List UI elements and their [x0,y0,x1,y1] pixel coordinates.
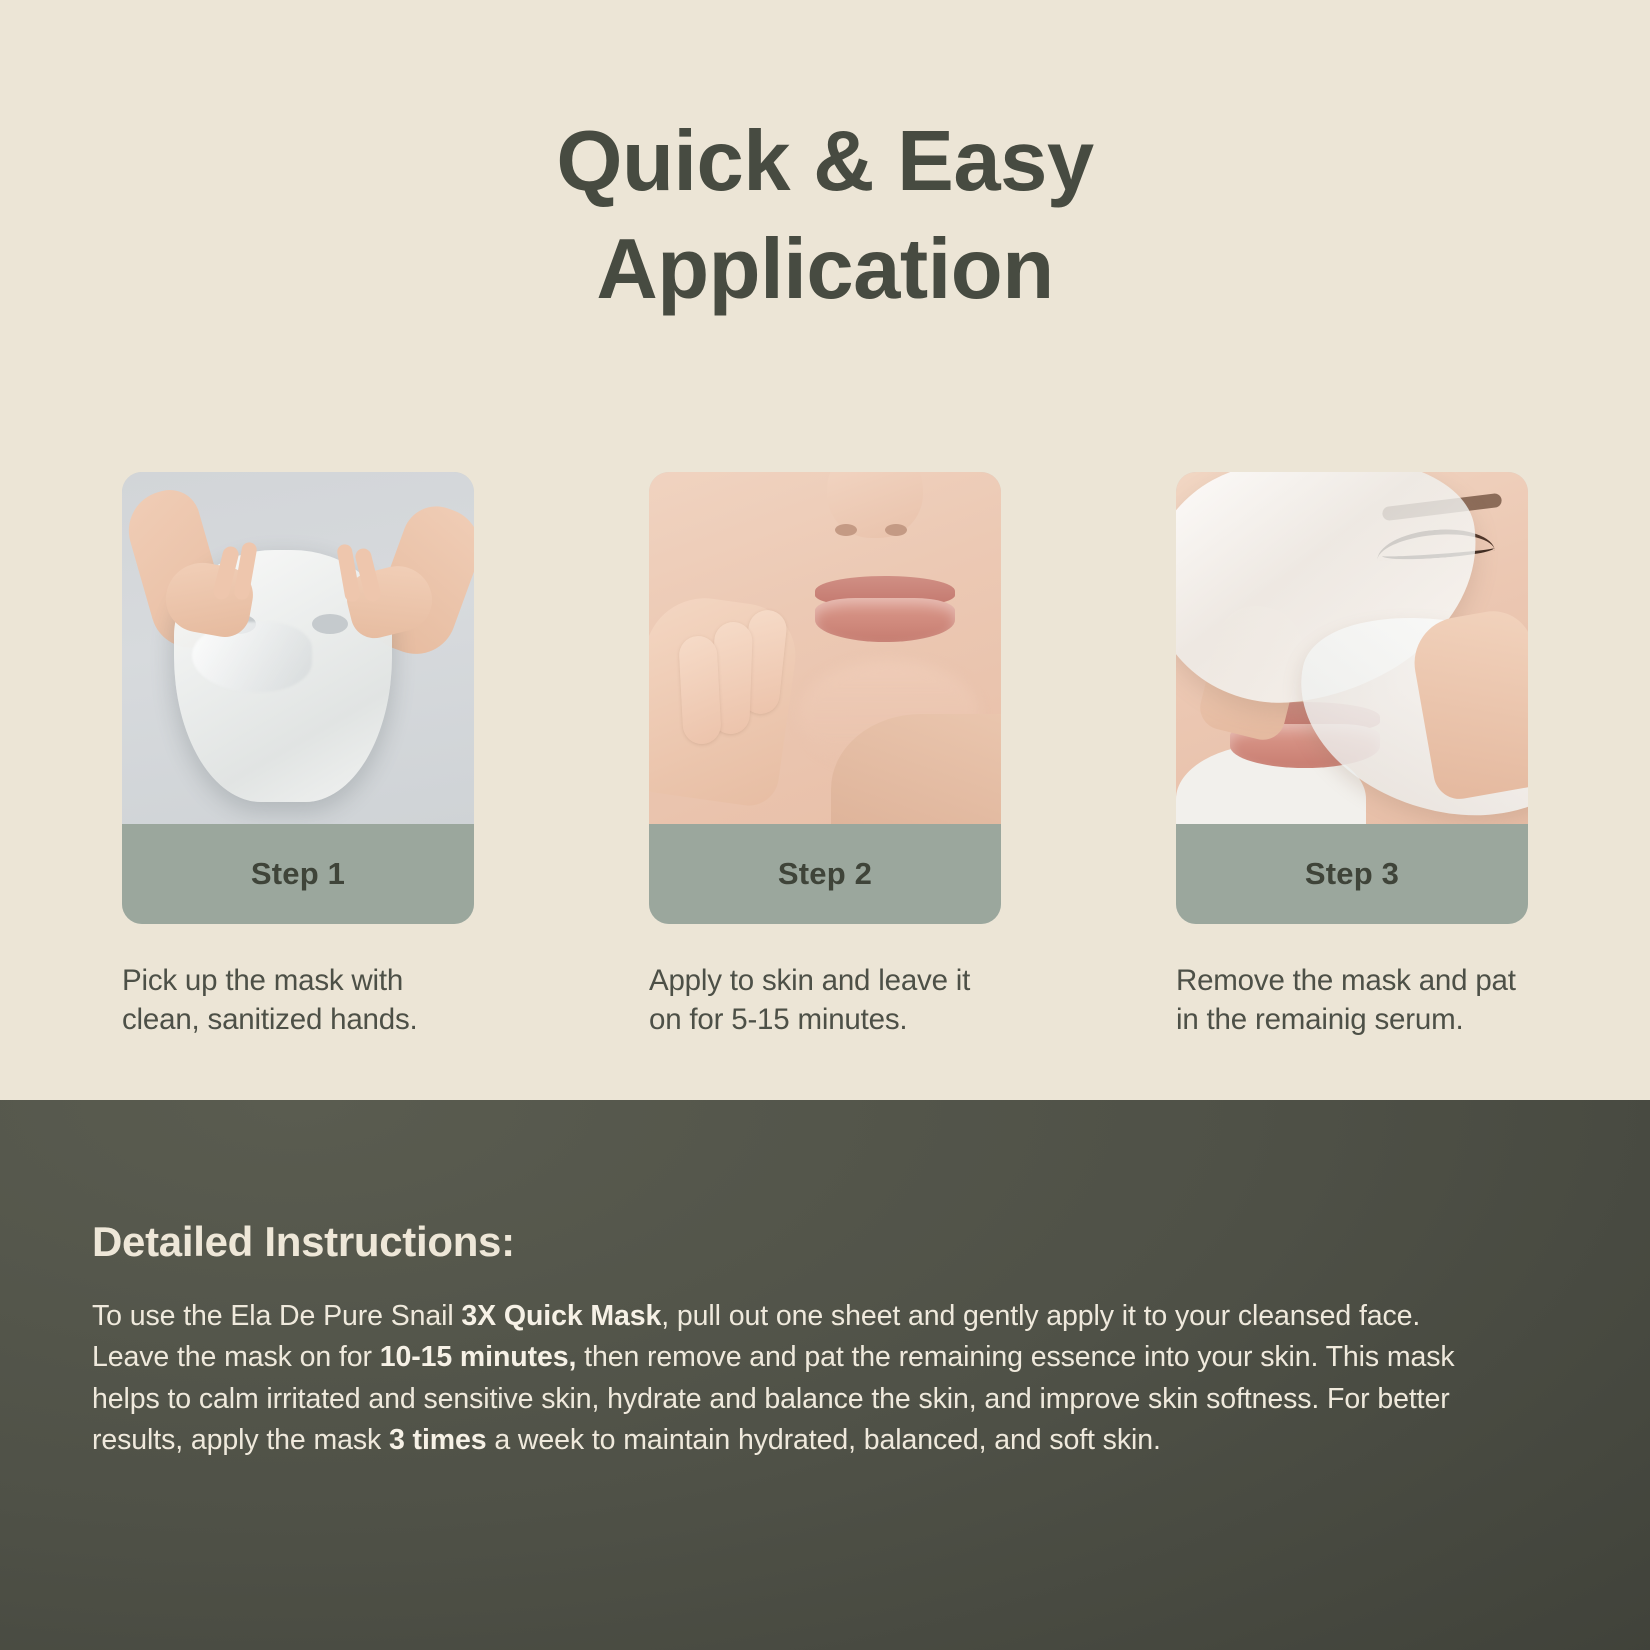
instructions-bold-frequency: 3 times [389,1424,487,1456]
step-card-1: Step 1 Pick up the mask with clean, sani… [122,472,474,1040]
steps-row: Step 1 Pick up the mask with clean, sani… [122,472,1528,1040]
step-2-photo [649,472,1001,824]
step-3-badge-label: Step 3 [1305,856,1399,892]
step-3-badge: Step 3 [1176,824,1528,924]
face-with-mask-image [649,472,1001,824]
step-1-caption-line-2: clean, sanitized hands. [122,1001,474,1040]
step-1-caption: Pick up the mask with clean, sanitized h… [122,962,474,1040]
step-1-photo [122,472,474,824]
step-2-caption-line-1: Apply to skin and leave it [649,962,1001,1001]
detailed-instructions-paragraph: To use the Ela De Pure Snail 3X Quick Ma… [92,1296,1492,1461]
step-3-caption-line-2: in the remainig serum. [1176,1001,1528,1040]
step-3-card: Step 3 [1176,472,1528,924]
application-steps-section: Quick & Easy Application [0,0,1650,1100]
detailed-instructions-heading: Detailed Instructions: [92,1218,1560,1266]
step-card-3: Step 3 Remove the mask and pat in the re… [1176,472,1528,1040]
page-title-line-1: Quick & Easy [556,114,1093,209]
step-1-badge: Step 1 [122,824,474,924]
step-3-photo [1176,472,1528,824]
page-title-line-2: Application [0,216,1650,324]
step-2-caption-line-2: on for 5-15 minutes. [649,1001,1001,1040]
step-2-badge: Step 2 [649,824,1001,924]
instructions-text-part-1: To use the Ela De Pure Snail [92,1300,461,1332]
detailed-instructions-section: Detailed Instructions: To use the Ela De… [0,1100,1650,1650]
hands-holding-mask-image [122,472,474,824]
instructions-bold-product-name: 3X Quick Mask [461,1300,661,1332]
page-title: Quick & Easy Application [0,108,1650,324]
step-card-2: Step 2 Apply to skin and leave it on for… [649,472,1001,1040]
step-2-card: Step 2 [649,472,1001,924]
step-1-caption-line-1: Pick up the mask with [122,962,474,1001]
instructions-bold-duration: 10-15 minutes, [380,1341,577,1373]
step-3-caption: Remove the mask and pat in the remainig … [1176,962,1528,1040]
removing-mask-image [1176,472,1528,824]
step-1-card: Step 1 [122,472,474,924]
step-1-badge-label: Step 1 [251,856,345,892]
step-2-caption: Apply to skin and leave it on for 5-15 m… [649,962,1001,1040]
step-3-caption-line-1: Remove the mask and pat [1176,962,1528,1001]
step-2-badge-label: Step 2 [778,856,872,892]
instructions-text-part-4: a week to maintain hydrated, balanced, a… [487,1424,1161,1456]
